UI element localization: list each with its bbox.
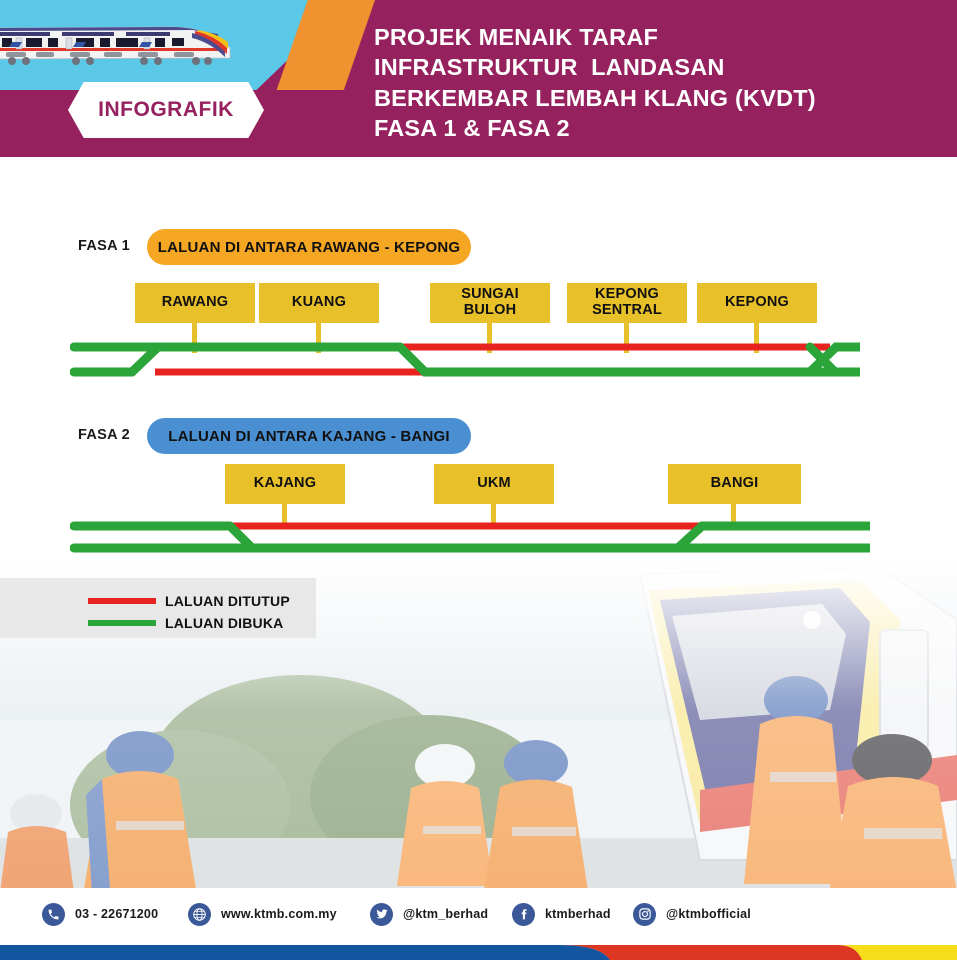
station-box-ukm: UKM xyxy=(434,464,554,504)
legend-swatch-open xyxy=(88,620,156,626)
footer-color-strip xyxy=(0,941,957,960)
legend-panel: LALUAN DITUTUP LALUAN DIBUKA xyxy=(0,578,316,638)
title-line-3: BERKEMBAR LEMBAH KLANG (KVDT) xyxy=(374,83,934,113)
header-banner: INFOGRAFIK PROJEK MENAIK TARAF INFRASTRU… xyxy=(0,0,957,157)
station-box-kajang: KAJANG xyxy=(225,464,345,504)
station-label: KEPONG SENTRAL xyxy=(592,287,662,318)
title-line-1: PROJEK MENAIK TARAF xyxy=(374,22,934,52)
phone-icon xyxy=(42,903,65,926)
station-box-kepong-sentral: KEPONG SENTRAL xyxy=(567,283,687,323)
phase-2-pill: LALUAN DI ANTARA KAJANG - BANGI xyxy=(147,418,471,454)
footer-facebook-text: ktmberhad xyxy=(545,907,611,921)
infographic-page: INFOGRAFIK PROJEK MENAIK TARAF INFRASTRU… xyxy=(0,0,957,960)
station-label: KAJANG xyxy=(254,476,316,492)
phase-1-track-diagram xyxy=(70,336,860,386)
legend-item-open: LALUAN DIBUKA xyxy=(88,615,283,631)
station-label: KUANG xyxy=(292,295,346,311)
strip-blue xyxy=(0,945,610,960)
footer-contact-twitter[interactable]: @ktm_berhad xyxy=(370,899,488,929)
page-title: PROJEK MENAIK TARAF INFRASTRUKTUR LANDAS… xyxy=(374,22,934,143)
legend-item-closed: LALUAN DITUTUP xyxy=(88,593,290,609)
legend-swatch-closed xyxy=(88,598,156,604)
ktm-train-icon xyxy=(0,18,242,70)
phase-2-label: FASA 2 xyxy=(78,427,130,443)
footer-bar: 03 - 22671200 www.ktmb.com.my @ktm_berha… xyxy=(0,888,957,940)
footer-twitter-text: @ktm_berhad xyxy=(403,907,488,921)
facebook-icon xyxy=(512,903,535,926)
station-label: KEPONG xyxy=(725,295,789,311)
station-label: UKM xyxy=(477,476,511,492)
phase-2-track-diagram xyxy=(70,516,870,562)
footer-contact-website[interactable]: www.ktmb.com.my xyxy=(188,899,337,929)
legend-label-closed: LALUAN DITUTUP xyxy=(165,593,290,609)
station-box-bangi: BANGI xyxy=(668,464,801,504)
footer-phone-text: 03 - 22671200 xyxy=(75,907,158,921)
footer-website-text: www.ktmb.com.my xyxy=(221,907,337,921)
footer-instagram-text: @ktmbofficial xyxy=(666,907,751,921)
station-box-sungai-buloh: SUNGAI BULOH xyxy=(430,283,550,323)
phase-1-pill: LALUAN DI ANTARA RAWANG - KEPONG xyxy=(147,229,471,265)
footer-contact-phone[interactable]: 03 - 22671200 xyxy=(42,899,158,929)
station-box-kuang: KUANG xyxy=(259,283,379,323)
footer-contact-facebook[interactable]: ktmberhad xyxy=(512,899,611,929)
footer-contact-instagram[interactable]: @ktmbofficial xyxy=(633,899,751,929)
station-box-rawang: RAWANG xyxy=(135,283,255,323)
open-track-crossover-mid xyxy=(400,347,860,372)
infografik-badge-label: INFOGRAFIK xyxy=(98,98,234,122)
station-label: SUNGAI BULOH xyxy=(461,287,519,318)
infografik-badge: INFOGRAFIK xyxy=(68,82,264,138)
station-box-kepong: KEPONG xyxy=(697,283,817,323)
legend-label-open: LALUAN DIBUKA xyxy=(165,615,283,631)
title-line-4: FASA 1 & FASA 2 xyxy=(374,113,934,143)
twitter-icon xyxy=(370,903,393,926)
phase-1-label: FASA 1 xyxy=(78,238,130,254)
station-label: RAWANG xyxy=(162,295,228,311)
globe-icon xyxy=(188,903,211,926)
instagram-icon xyxy=(633,903,656,926)
title-line-2: INFRASTRUKTUR LANDASAN xyxy=(374,52,934,82)
station-label: BANGI xyxy=(711,476,759,492)
